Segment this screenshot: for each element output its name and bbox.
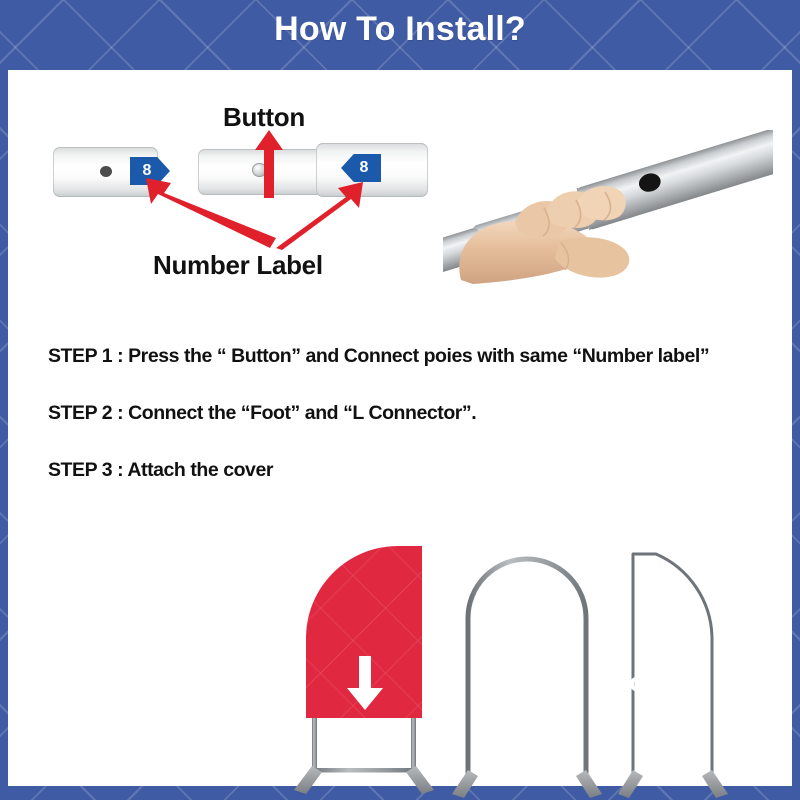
callout-arrows — [8, 70, 438, 295]
step-2-text: STEP 2 : Connect the “Foot” and “L Conne… — [48, 402, 768, 425]
page-title: How To Install? — [0, 10, 800, 49]
pole-connection-diagram: Button Number Label 8 8 — [8, 70, 438, 295]
arch-frame-round-top — [468, 559, 586, 778]
button-arrow-icon — [255, 130, 283, 198]
step-1-text: STEP 1 : Press the “ Button” and Connect… — [48, 345, 768, 368]
step-3-text: STEP 3 : Attach the cover — [48, 459, 768, 482]
cover-label: Cover — [610, 667, 685, 698]
arch-frame-round-top-feet — [452, 770, 602, 798]
hand-holding-pole-photo — [443, 130, 773, 290]
content-panel: Button Number Label 8 8 — [8, 70, 792, 786]
arch-frames-illustration: Cover — [288, 510, 748, 790]
arch-with-cover — [294, 546, 434, 794]
install-instruction-graphic: How To Install? Button Number Label 8 8 — [0, 0, 800, 800]
arch-frame-round-corner — [633, 554, 712, 776]
number-label-arrow-left-icon — [146, 178, 276, 248]
step-instructions: STEP 1 : Press the “ Button” and Connect… — [48, 345, 768, 516]
number-label-arrow-right-icon — [276, 182, 363, 250]
arch-frame-round-corner-feet — [618, 770, 728, 798]
